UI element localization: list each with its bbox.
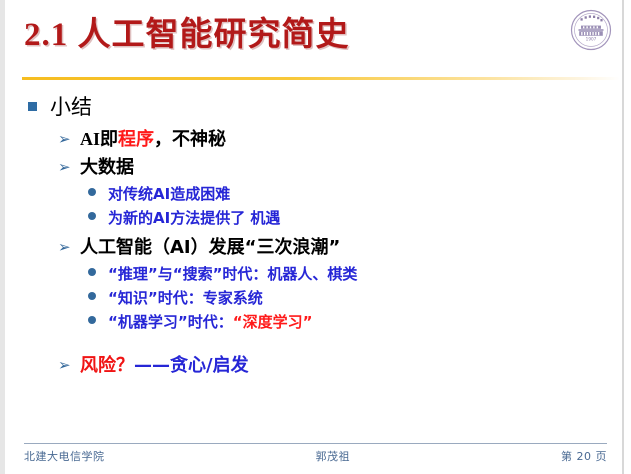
text-risk-question: 风险？ xyxy=(80,355,134,376)
footer-divider xyxy=(24,443,607,444)
outline-item-big-data: ➢ 大数据 xyxy=(58,154,631,181)
round-bullet-icon xyxy=(88,186,108,204)
slide-canvas: 2.1 人工智能研究简史 xyxy=(0,0,631,474)
text-wave-reasoning-search: “推理”与“搜索”时代：机器人、棋类 xyxy=(108,262,357,286)
arrow-bullet-icon: ➢ xyxy=(58,238,80,256)
slide-footer: 北建大电信学院 郭茂祖 第 20 页 xyxy=(24,448,607,464)
arrow-bullet-icon: ➢ xyxy=(58,356,80,374)
text-program-highlight: 程序 xyxy=(118,129,154,149)
round-bullet-icon xyxy=(88,290,108,308)
outline-subitem-traditional-ai-difficulty: 对传统AI造成困难 xyxy=(88,182,631,206)
text-deep-learning-highlight: “深度学习” xyxy=(233,313,313,331)
text-new-ai-opportunity: 为新的AI方法提供了 机遇 xyxy=(108,206,280,230)
text-wave-knowledge: “知识”时代：专家系统 xyxy=(108,286,263,310)
footer-institution: 北建大电信学院 xyxy=(24,448,105,464)
round-bullet-icon xyxy=(88,266,108,284)
arrow-bullet-icon: ➢ xyxy=(58,158,80,176)
footer-author: 郭茂祖 xyxy=(105,448,562,464)
university-seal-logo: 1907 xyxy=(570,9,612,51)
outline-item-three-waves: ➢ 人工智能（AI）发展“三次浪潮” xyxy=(58,234,631,261)
seal-year-text: 1907 xyxy=(586,36,597,41)
content-spacer xyxy=(0,334,631,352)
outline-level1-label: 小结 xyxy=(50,92,92,122)
outline-subitem-wave-machine-learning: “机器学习”时代：“深度学习” xyxy=(88,310,631,334)
text-wave-ml-prefix: “机器学习”时代： xyxy=(108,313,233,331)
title-underline-rule xyxy=(22,77,620,80)
outline-item-ai-is-program: ➢ AI即程序，不神秘 xyxy=(58,126,631,153)
square-bullet-icon xyxy=(28,101,50,119)
arrow-bullet-icon: ➢ xyxy=(58,130,80,148)
round-bullet-icon xyxy=(88,314,108,332)
outline-level1-item: 小结 xyxy=(28,92,631,122)
text-greedy-heuristic: ——贪心/启发 xyxy=(134,355,249,376)
text-big-data: 大数据 xyxy=(80,154,134,181)
slide-title: 2.1 人工智能研究简史 xyxy=(24,14,350,56)
slide-content: 小结 ➢ AI即程序，不神秘 ➢ 大数据 对传统AI造成困难 为新的AI方法提供… xyxy=(0,92,631,380)
text-ai-prefix: AI即 xyxy=(80,129,118,149)
footer-page-number: 第 20 页 xyxy=(561,448,607,464)
outline-subitem-wave-reasoning-search: “推理”与“搜索”时代：机器人、棋类 xyxy=(88,262,631,286)
text-not-mysterious: ，不神秘 xyxy=(154,129,226,149)
outline-item-risk: ➢ 风险？——贪心/启发 xyxy=(58,352,631,379)
outline-subitem-wave-knowledge: “知识”时代：专家系统 xyxy=(88,286,631,310)
text-three-waves: 人工智能（AI）发展“三次浪潮” xyxy=(80,234,340,261)
round-bullet-icon xyxy=(88,210,108,228)
text-traditional-ai-difficulty: 对传统AI造成困难 xyxy=(108,182,230,206)
outline-subitem-new-ai-opportunity: 为新的AI方法提供了 机遇 xyxy=(88,206,631,230)
